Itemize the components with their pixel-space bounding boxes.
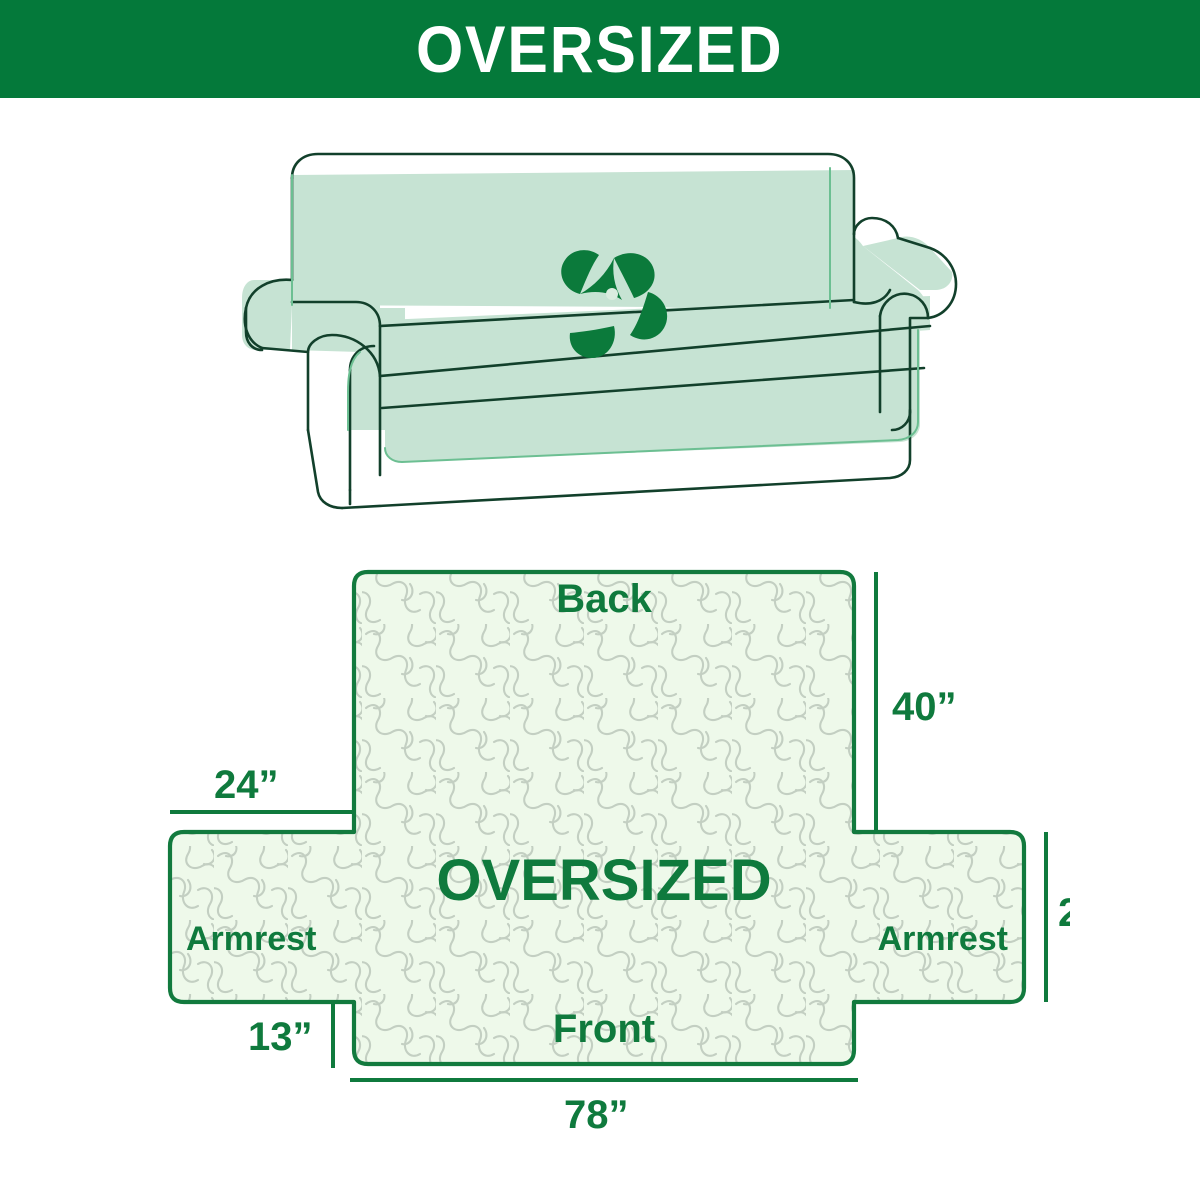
dimension-label-armrest-width: 24” xyxy=(214,763,279,807)
panel-label-back: Back xyxy=(556,577,652,621)
dimension-label-total-width: 78” xyxy=(564,1093,629,1137)
panel-label-armrest-right: Armrest xyxy=(878,920,1008,958)
panel-label-armrest-left: Armrest xyxy=(186,920,316,958)
panel-label-front: Front xyxy=(553,1007,655,1051)
sofa-illustration xyxy=(230,130,990,530)
header-banner: OVERSIZED xyxy=(0,0,1200,98)
dimension-label-front-height: 13” xyxy=(248,1015,313,1059)
diagram-center-label: OVERSIZED xyxy=(436,848,771,913)
dimension-label-back-height: 40” xyxy=(892,685,957,729)
flat-layout-diagram: 40” 24” 23” 13” 78” Back Armrest Armrest… xyxy=(140,550,1070,1150)
dimension-label-armrest-depth: 23” xyxy=(1058,891,1070,935)
page-title: OVERSIZED xyxy=(416,16,783,82)
